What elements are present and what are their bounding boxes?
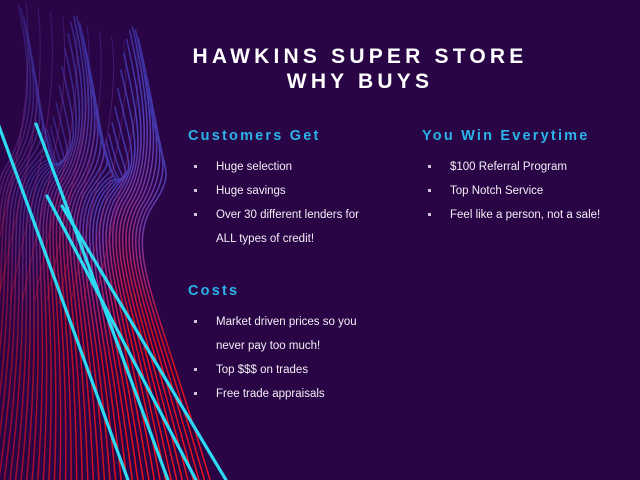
slide-title: HAWKINS SUPER STORE WHY BUYS [140, 44, 580, 94]
title-line-2: WHY BUYS [140, 69, 580, 94]
bullet-text: Free trade appraisals [216, 388, 325, 400]
bullet-text: Over 30 different lenders for [216, 209, 359, 221]
bullet-text: $100 Referral Program [450, 161, 567, 173]
bullet-text-wrap: never pay too much! [216, 334, 398, 358]
bullet-marker-icon [428, 213, 431, 216]
list-item: Top Notch Service [422, 179, 637, 203]
bullet-text: Feel like a person, not a sale! [450, 209, 600, 221]
bullet-text: Huge selection [216, 161, 292, 173]
bullet-marker-icon [194, 320, 197, 323]
bullet-text: Top $$$ on trades [216, 364, 308, 376]
bullet-list-costs: Market driven prices so you never pay to… [188, 310, 398, 406]
bullet-list-you-win-everytime: $100 Referral Program Top Notch Service … [422, 155, 637, 227]
section-costs: Costs Market driven prices so you never … [188, 283, 398, 406]
bullet-marker-icon [194, 165, 197, 168]
bullet-marker-icon [428, 165, 431, 168]
list-item: Top $$$ on trades [188, 358, 398, 382]
bullet-text: Market driven prices so you [216, 316, 357, 328]
list-item: $100 Referral Program [422, 155, 637, 179]
bullet-text-wrap: ALL types of credit! [216, 227, 388, 251]
bullet-marker-icon [194, 213, 197, 216]
section-heading-you-win-everytime: You Win Everytime [422, 128, 637, 144]
bullet-text: Top Notch Service [450, 185, 543, 197]
bullet-marker-icon [194, 368, 197, 371]
bullet-text: Huge savings [216, 185, 286, 197]
section-heading-customers-get: Customers Get [188, 128, 388, 144]
section-customers-get: Customers Get Huge selection Huge saving… [188, 128, 388, 251]
title-line-1: HAWKINS SUPER STORE [140, 44, 580, 69]
bullet-marker-icon [428, 189, 431, 192]
list-item: Huge selection [188, 155, 388, 179]
bullet-marker-icon [194, 189, 197, 192]
bullet-marker-icon [194, 392, 197, 395]
slide-canvas: HAWKINS SUPER STORE WHY BUYS Customers G… [0, 0, 640, 480]
list-item: Huge savings [188, 179, 388, 203]
section-you-win-everytime: You Win Everytime $100 Referral Program … [422, 128, 637, 227]
list-item: Feel like a person, not a sale! [422, 203, 637, 227]
section-heading-costs: Costs [188, 283, 398, 299]
list-item: Market driven prices so you never pay to… [188, 310, 398, 358]
list-item: Free trade appraisals [188, 382, 398, 406]
list-item: Over 30 different lenders for ALL types … [188, 203, 388, 251]
bullet-list-customers-get: Huge selection Huge savings Over 30 diff… [188, 155, 388, 251]
